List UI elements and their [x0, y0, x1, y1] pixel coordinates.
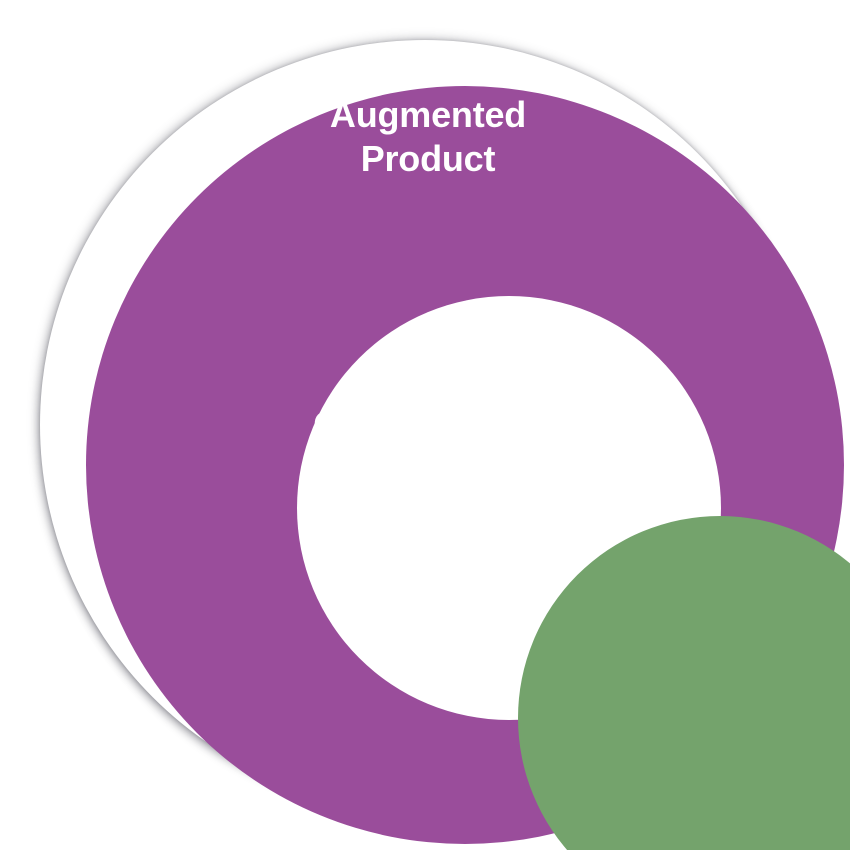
core-product-circle-ring	[297, 296, 721, 720]
core-product-label: Core Product	[226, 404, 626, 446]
augmented-product-circle[interactable]	[86, 86, 844, 844]
core-product-circle[interactable]	[518, 516, 850, 850]
augmented-product-label-line1: Augmented	[178, 93, 678, 137]
product-layers-diagram: Augmented Product Core Product	[0, 0, 850, 850]
augmented-product-label: Augmented Product	[178, 93, 678, 181]
augmented-product-label-line2: Product	[178, 137, 678, 181]
